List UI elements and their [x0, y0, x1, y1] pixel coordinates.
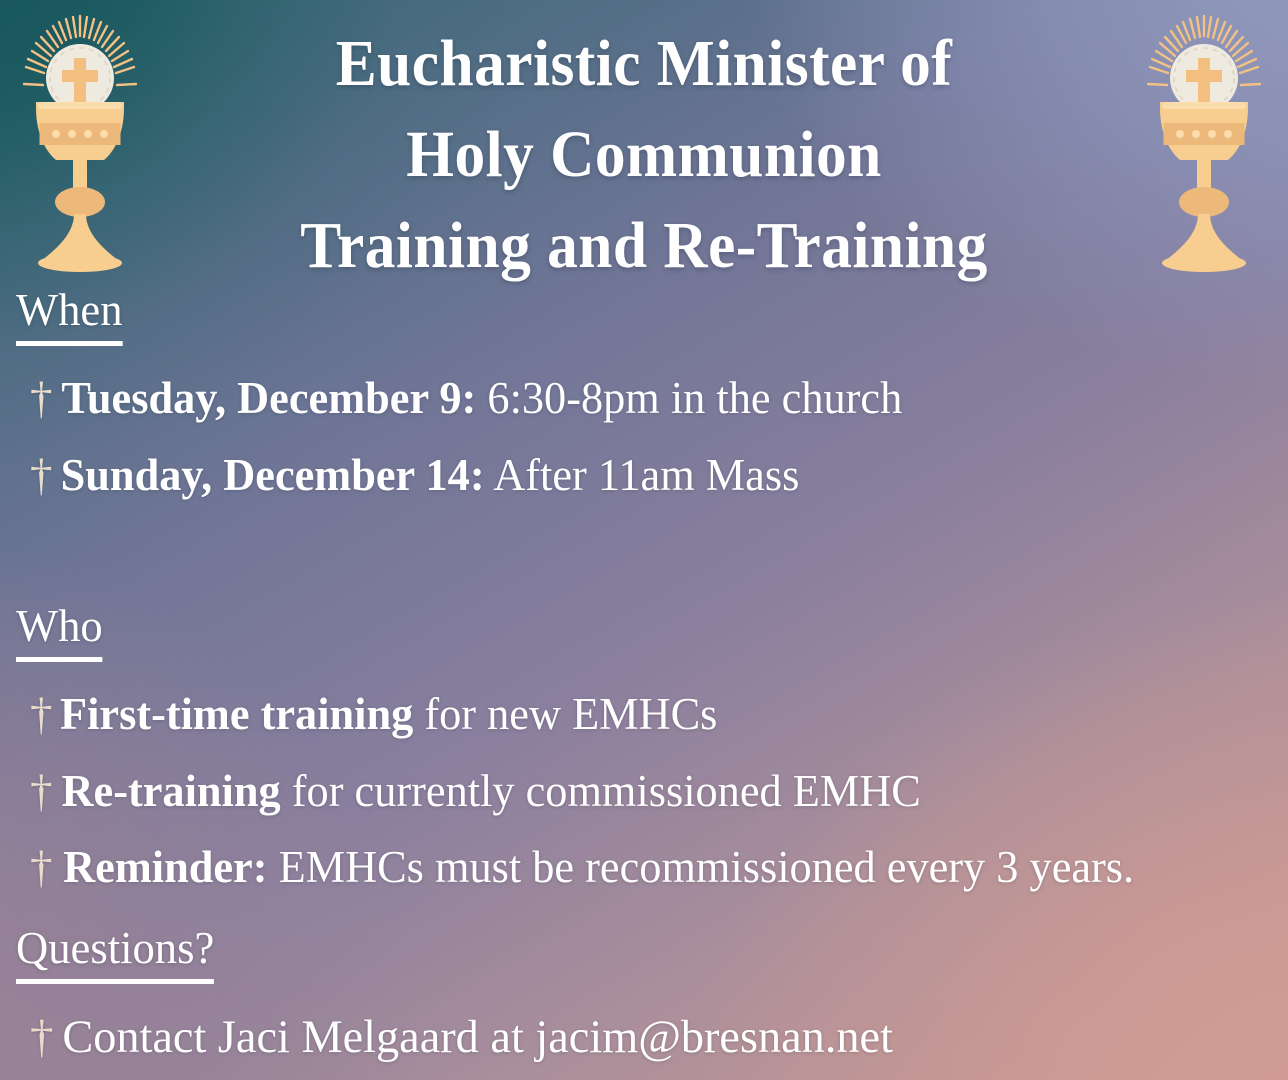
section-questions: Questions? † Contact Jaci Melgaard at ja… — [16, 924, 1274, 1078]
list-item-strong: Tuesday, December 9: — [61, 373, 476, 423]
list-item-normal: for currently commissioned EMHC — [280, 766, 920, 816]
poster-canvas: Eucharistic Minister of Holy Communion T… — [0, 0, 1288, 1080]
list-item-normal: After 11am Mass — [484, 450, 799, 500]
list-item-normal: EMHCs must be recommissioned every 3 yea… — [267, 842, 1134, 892]
bullet-list-questions: † Contact Jaci Melgaard at jacim@bresnan… — [16, 998, 1274, 1078]
title-line-1: Eucharistic Minister of — [185, 18, 1104, 109]
title-line-3: Training and Re-Training — [185, 200, 1104, 291]
list-item: † Re-training for currently commissioned… — [16, 753, 1274, 830]
list-item-normal: 6:30-8pm in the church — [476, 373, 902, 423]
list-item-strong: Reminder: — [63, 842, 267, 892]
section-heading-questions: Questions? — [16, 924, 214, 984]
bullet-list-who: † First-time training for new EMHCs † Re… — [16, 676, 1274, 906]
dagger-cross-icon: † — [16, 829, 53, 906]
list-item-strong: Sunday, December 14: — [60, 450, 484, 500]
title-line-2: Holy Communion — [185, 109, 1104, 200]
list-item: † First-time training for new EMHCs — [16, 676, 1274, 753]
section-who: Who † First-time training for new EMHCs … — [16, 602, 1274, 906]
dagger-cross-icon: † — [16, 998, 54, 1078]
dagger-cross-icon: † — [16, 676, 53, 753]
list-item: † Tuesday, December 9: 6:30-8pm in the c… — [16, 360, 1274, 437]
list-item: † Contact Jaci Melgaard at jacim@bresnan… — [16, 998, 1274, 1078]
bullet-list-when: † Tuesday, December 9: 6:30-8pm in the c… — [16, 360, 1274, 513]
contact-email-text: Contact Jaci Melgaard at jacim@bresnan.n… — [62, 1011, 893, 1063]
section-heading-when: When — [16, 286, 123, 346]
list-item-strong: First-time training — [60, 689, 413, 739]
poster-title: Eucharistic Minister of Holy Communion T… — [150, 18, 1138, 291]
chalice-with-host-icon-right — [1140, 6, 1268, 296]
dagger-cross-icon: † — [16, 437, 53, 514]
dagger-cross-icon: † — [16, 753, 53, 830]
dagger-cross-icon: † — [16, 360, 53, 437]
chalice-with-host-icon-left — [16, 6, 144, 296]
section-heading-who: Who — [16, 602, 103, 662]
list-item: † Sunday, December 14: After 11am Mass — [16, 437, 1274, 514]
list-item-strong: Re-training — [61, 766, 280, 816]
section-when: When † Tuesday, December 9: 6:30-8pm in … — [16, 286, 1274, 513]
list-item: † Reminder: EMHCs must be recommissioned… — [16, 829, 1274, 906]
list-item-normal: for new EMHCs — [413, 689, 717, 739]
